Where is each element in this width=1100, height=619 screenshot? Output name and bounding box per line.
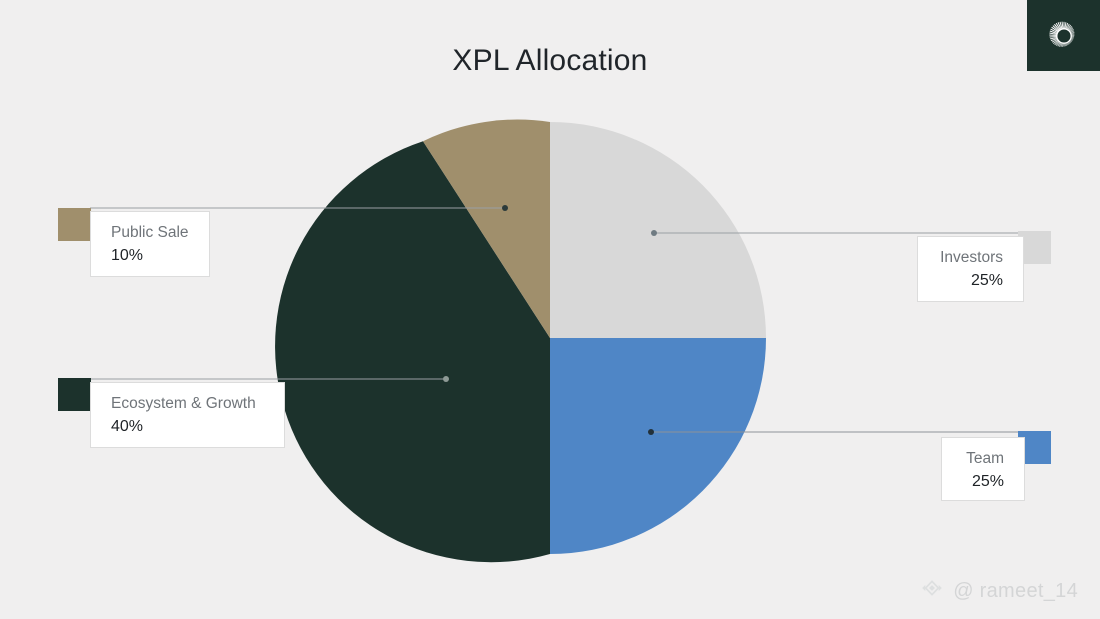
legend-value-ecosystem: 40% [111, 415, 270, 439]
legend-swatch-ecosystem [58, 378, 91, 411]
diamond-cluster-icon [919, 579, 945, 603]
slide-canvas: XPL Allocation Publ [0, 0, 1100, 619]
legend-label-public-sale: Public Sale [111, 222, 195, 244]
brand-logo-tile [1027, 0, 1100, 71]
legend-label-investors: Investors [932, 247, 1003, 269]
legend-value-investors: 25% [932, 269, 1003, 293]
watermark-handle: @ rameet_14 [953, 580, 1078, 603]
legend-callout-ecosystem[interactable]: Ecosystem & Growth 40% [90, 382, 285, 448]
legend-value-team: 25% [956, 470, 1004, 494]
legend-callout-investors[interactable]: Investors 25% [917, 236, 1024, 302]
legend-value-public-sale: 10% [111, 244, 195, 268]
watermark: @ rameet_14 [919, 579, 1078, 603]
legend-swatch-public-sale [58, 208, 91, 241]
legend-label-ecosystem: Ecosystem & Growth [111, 393, 270, 415]
legend-callout-team[interactable]: Team 25% [941, 437, 1025, 501]
plasma-radial-ring-icon [1044, 16, 1084, 56]
pie-slice-investors[interactable] [550, 122, 766, 338]
legend-label-team: Team [956, 448, 1004, 470]
pie-slice-team[interactable] [550, 338, 766, 554]
pie-chart [0, 0, 1100, 619]
legend-callout-public-sale[interactable]: Public Sale 10% [90, 211, 210, 277]
